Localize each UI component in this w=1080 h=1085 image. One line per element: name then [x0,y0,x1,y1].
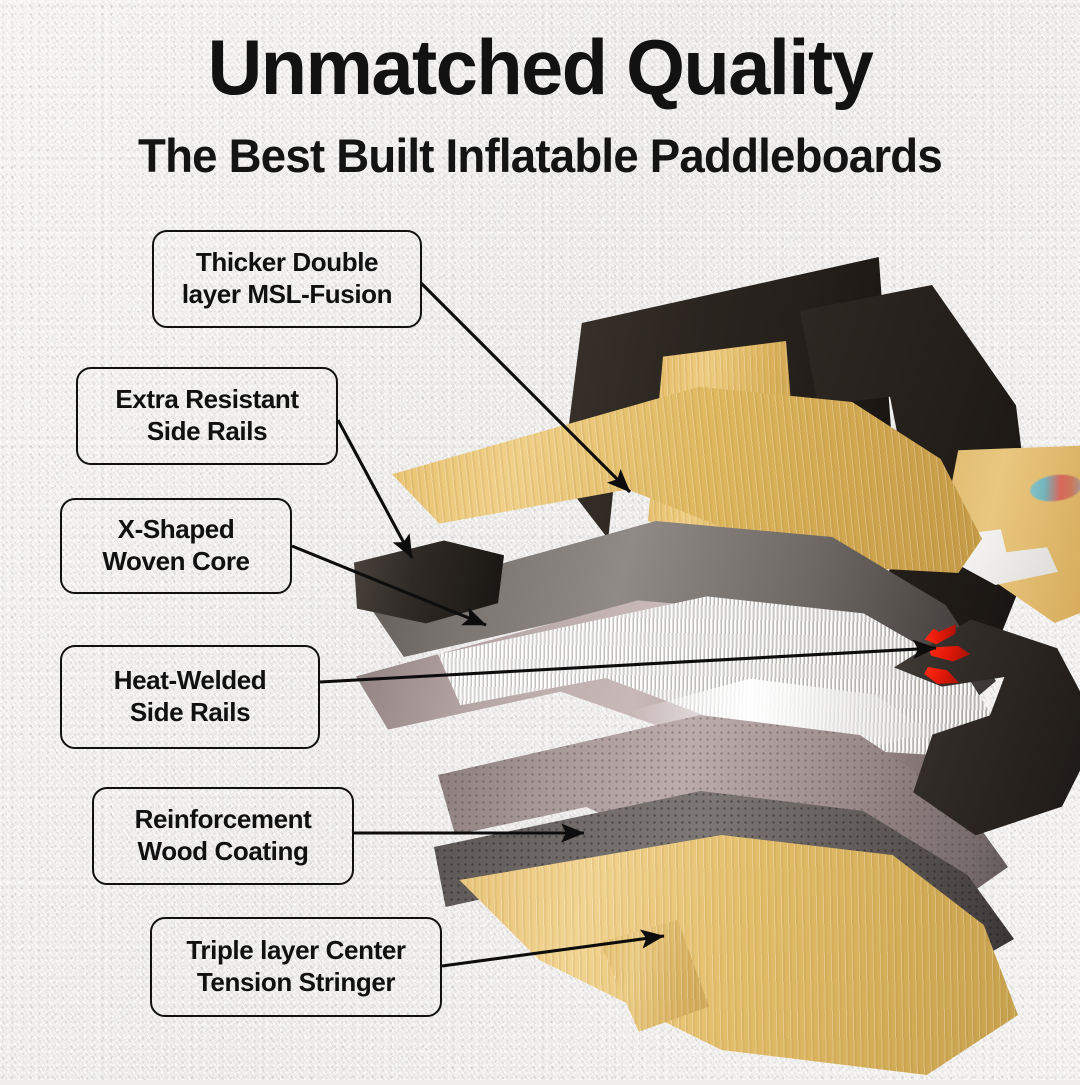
callout-line-2: Wood Coating [135,836,312,868]
callout-triple-layer-center-tension-stringer[interactable]: Triple layer Center Tension Stringer [150,917,442,1017]
paddleboard-cutaway-illustration [330,245,1080,985]
callout-line-1: Extra Resistant [115,384,298,416]
callout-line-2: Woven Core [102,546,249,578]
callout-thicker-double-layer[interactable]: Thicker Double layer MSL-Fusion [152,230,422,328]
page-title: Unmatched Quality [16,28,1064,106]
callout-line-1: X-Shaped [102,514,249,546]
callout-heat-welded-side-rails[interactable]: Heat-Welded Side Rails [60,645,320,749]
headings-block: Unmatched Quality The Best Built Inflata… [0,28,1080,179]
callout-line-2: Side Rails [115,416,298,448]
callout-line-1: Heat-Welded [114,665,267,697]
callout-line-1: Reinforcement [135,804,312,836]
callout-line-1: Triple layer Center [186,935,405,967]
callout-line-2: Tension Stringer [186,967,405,999]
callout-reinforcement-wood-coating[interactable]: Reinforcement Wood Coating [92,787,354,885]
callout-line-1: Thicker Double [182,247,392,279]
callout-x-shaped-woven-core[interactable]: X-Shaped Woven Core [60,498,292,594]
callout-line-2: Side Rails [114,697,267,729]
callout-line-2: layer MSL-Fusion [182,279,392,311]
callout-extra-resistant-side-rails[interactable]: Extra Resistant Side Rails [76,367,338,465]
page-subtitle: The Best Built Inflatable Paddleboards [16,132,1064,179]
